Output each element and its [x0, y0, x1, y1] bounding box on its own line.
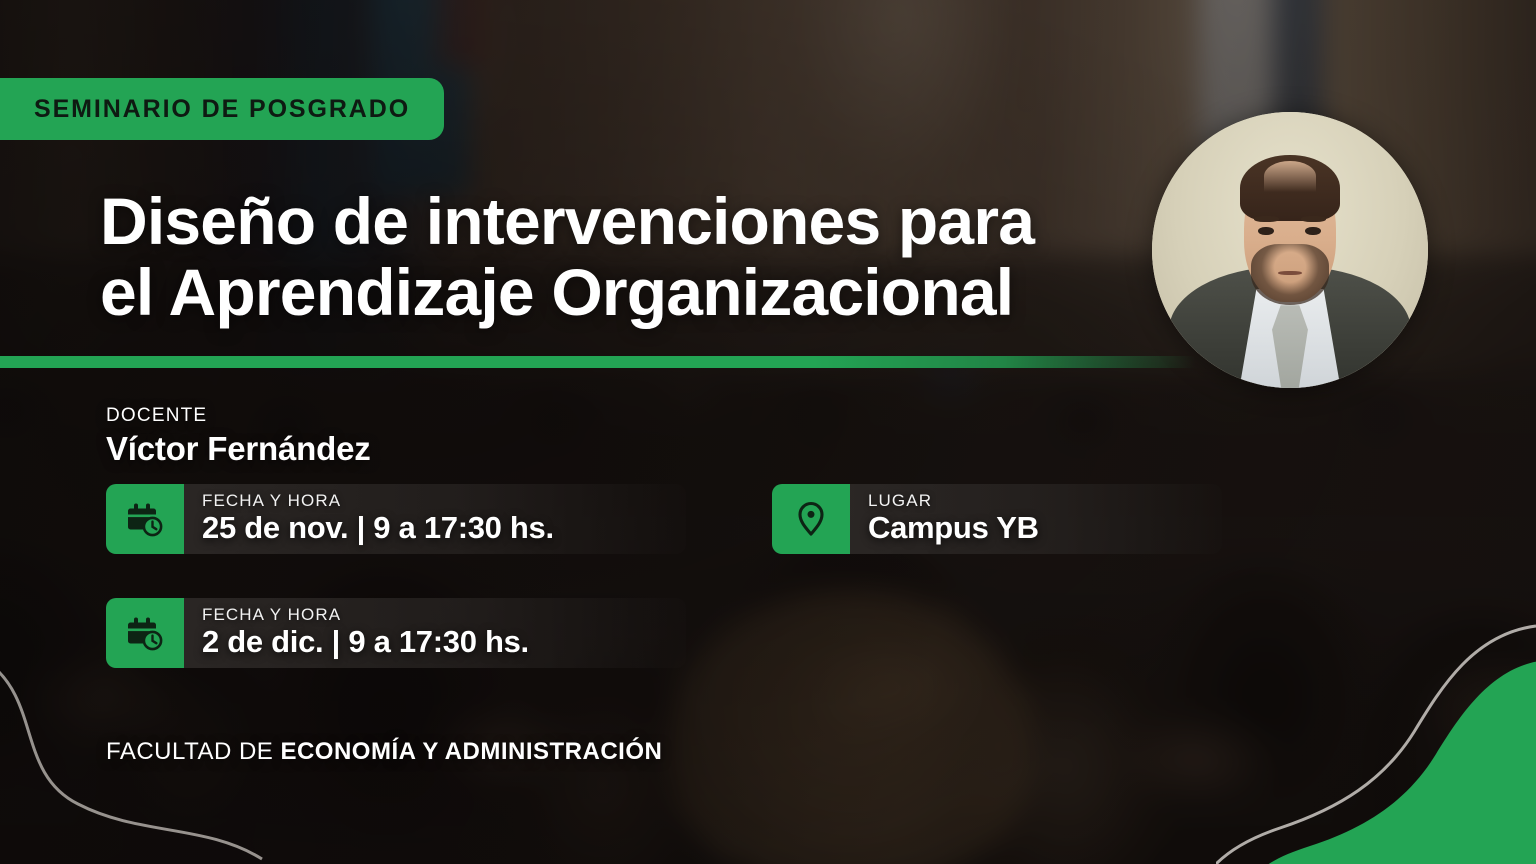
page-title: Diseño de intervenciones para el Aprendi…: [100, 186, 1034, 327]
info-card-kicker: LUGAR: [868, 491, 1184, 511]
info-card-place: LUGAR Campus YB: [772, 484, 1222, 554]
teacher-kicker: DOCENTE: [106, 405, 371, 427]
event-poster: SEMINARIO DE POSGRADO Diseño de interven…: [0, 0, 1536, 864]
info-card-kicker: FECHA Y HORA: [202, 605, 648, 625]
category-badge-label: SEMINARIO DE POSGRADO: [34, 95, 410, 124]
faculty-name: ECONOMÍA Y ADMINISTRACIÓN: [280, 738, 662, 765]
info-card-date-1: FECHA Y HORA 25 de nov. | 9 a 17:30 hs.: [106, 484, 686, 554]
faculty-line: FACULTAD DE ECONOMÍA Y ADMINISTRACIÓN: [106, 738, 662, 766]
info-card-value: Campus YB: [868, 510, 1184, 547]
info-card-date-2: FECHA Y HORA 2 de dic. | 9 a 17:30 hs.: [106, 598, 686, 668]
green-divider: [0, 356, 1195, 368]
teacher-name: Víctor Fernández: [106, 430, 371, 468]
speaker-portrait-avatar: [1152, 112, 1428, 388]
teacher-block: DOCENTE Víctor Fernández: [106, 405, 371, 468]
info-card-kicker: FECHA Y HORA: [202, 491, 648, 511]
page-title-line-1: Diseño de intervenciones para: [100, 186, 1034, 257]
location-pin-icon: [772, 484, 850, 554]
category-badge: SEMINARIO DE POSGRADO: [0, 78, 444, 140]
calendar-clock-icon: [106, 484, 184, 554]
info-card-value: 2 de dic. | 9 a 17:30 hs.: [202, 624, 648, 661]
page-title-line-2: el Aprendizaje Organizacional: [100, 257, 1034, 328]
faculty-prefix: FACULTAD DE: [106, 738, 280, 765]
decorative-green-blob: [1248, 650, 1536, 864]
info-card-value: 25 de nov. | 9 a 17:30 hs.: [202, 510, 648, 547]
calendar-clock-icon: [106, 598, 184, 668]
